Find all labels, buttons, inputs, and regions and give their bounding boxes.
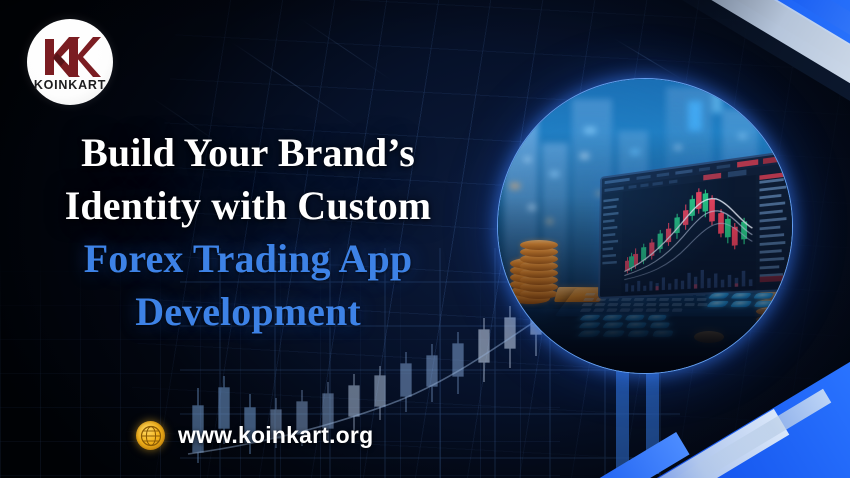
globe-coin-icon bbox=[136, 421, 165, 450]
koinkart-logo[interactable]: KOINKART bbox=[27, 19, 113, 105]
photo-shading bbox=[498, 79, 792, 373]
website-url-text[interactable]: www.koinkart.org bbox=[178, 422, 373, 449]
headline-line-4: Development bbox=[18, 285, 478, 338]
laptop-trading-photo bbox=[497, 78, 793, 374]
headline-line-3: Forex Trading App bbox=[18, 232, 478, 285]
kk-monogram-icon bbox=[39, 35, 101, 79]
logo-brand-text: KOINKART bbox=[34, 78, 106, 92]
website-url-row[interactable]: www.koinkart.org bbox=[136, 421, 373, 450]
headline: Build Your Brand’s Identity with Custom … bbox=[18, 126, 478, 338]
marketing-banner: KOINKART Build Your Brand’s Identity wit… bbox=[0, 0, 850, 478]
headline-line-2: Identity with Custom bbox=[18, 179, 478, 232]
headline-line-1: Build Your Brand’s bbox=[18, 126, 478, 179]
